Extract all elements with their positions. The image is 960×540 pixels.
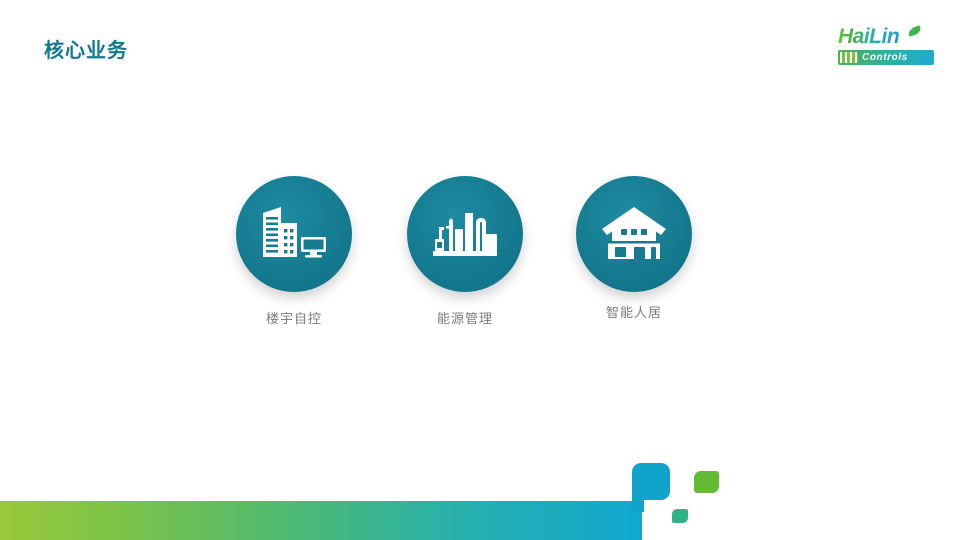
logo-subtitle: Controls bbox=[862, 51, 908, 64]
business-item-label: 楼宇自控 bbox=[224, 310, 364, 328]
house-icon bbox=[576, 176, 692, 292]
decoration-blue-square bbox=[632, 463, 670, 500]
icon-circle[interactable] bbox=[576, 176, 692, 292]
decoration-green-square-large bbox=[694, 471, 719, 493]
industrial-plant-icon bbox=[407, 176, 523, 292]
business-item-energy-management[interactable]: 能源管理 bbox=[395, 176, 535, 328]
core-business-icon-row: 楼宇自控 bbox=[0, 176, 960, 336]
business-item-building-automation[interactable]: 楼宇自控 bbox=[224, 176, 364, 328]
brand-logo: HaiLin Controls bbox=[832, 26, 936, 68]
footer-gradient-bar bbox=[0, 501, 642, 540]
business-item-smart-living[interactable]: 智能人居 bbox=[564, 176, 704, 322]
stripes-icon bbox=[840, 52, 858, 63]
business-item-label: 智能人居 bbox=[564, 304, 704, 322]
page-title: 核心业务 bbox=[44, 41, 128, 61]
logo-wordmark: HaiLin bbox=[838, 26, 899, 48]
leaf-icon bbox=[907, 25, 922, 36]
slide-canvas: 核心业务 HaiLin Controls bbox=[0, 0, 960, 540]
decoration-green-square-small bbox=[672, 509, 688, 523]
logo-subtitle-bar: Controls bbox=[838, 50, 934, 65]
business-item-label: 能源管理 bbox=[395, 310, 535, 328]
icon-circle[interactable] bbox=[407, 176, 523, 292]
office-building-monitor-icon bbox=[236, 176, 352, 292]
icon-circle[interactable] bbox=[236, 176, 352, 292]
